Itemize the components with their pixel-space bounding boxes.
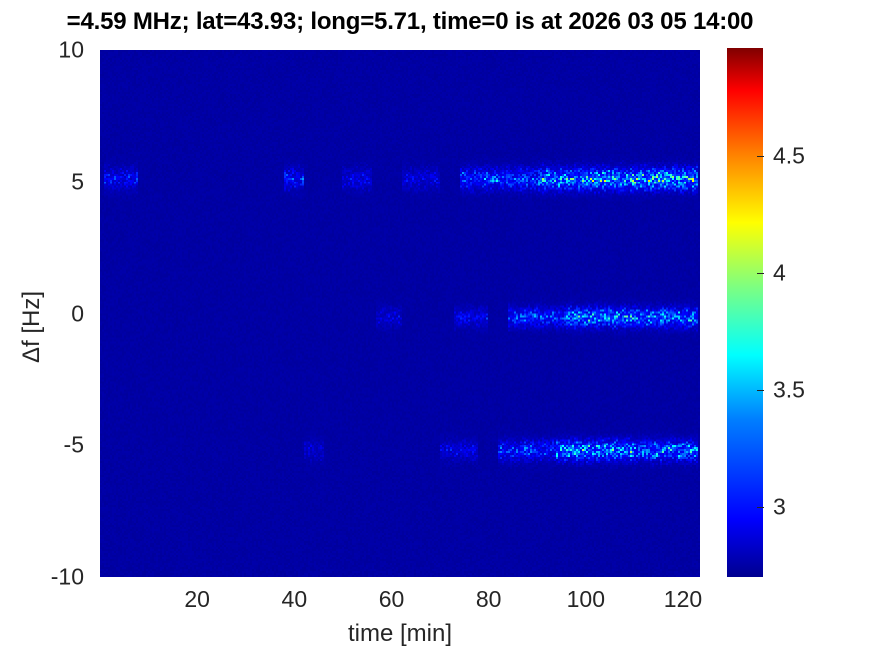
y-tick-label: 0 <box>0 300 92 327</box>
y-axis-ticks: 1050-5-10 <box>0 0 92 656</box>
y-tick-label: 5 <box>0 168 92 195</box>
x-tick-label: 20 <box>184 586 210 613</box>
y-tick-label: 10 <box>0 37 92 64</box>
spectrogram-axes[interactable] <box>100 50 700 577</box>
y-axis-label: Δf [Hz] <box>18 197 46 457</box>
x-axis-ticks: 20406080100120 <box>0 586 875 622</box>
x-tick-label: 40 <box>282 586 308 613</box>
colorbar-tick-label: 3.5 <box>773 376 805 403</box>
x-axis-label: time [min] <box>100 620 700 648</box>
colorbar-tick-label: 3 <box>773 493 786 520</box>
x-tick-label: 100 <box>567 586 605 613</box>
x-tick-label: 80 <box>476 586 502 613</box>
colorbar-tick-label: 4.5 <box>773 142 805 169</box>
figure-window: =4.59 MHz; lat=43.93; long=5.71, time=0 … <box>0 0 875 656</box>
colorbar-tick-label: 4 <box>773 259 786 286</box>
figure-title: =4.59 MHz; lat=43.93; long=5.71, time=0 … <box>0 8 820 36</box>
colorbar-tick-mark <box>757 390 764 392</box>
x-tick-label: 120 <box>664 586 702 613</box>
colorbar-ticks: 33.544.5 <box>727 48 875 577</box>
colorbar-tick-mark <box>757 273 764 275</box>
y-tick-label: -5 <box>0 432 92 459</box>
spectrogram-image <box>100 50 700 577</box>
colorbar-tick-mark <box>757 507 764 509</box>
x-tick-label: 60 <box>379 586 405 613</box>
colorbar-tick-mark <box>757 156 764 158</box>
